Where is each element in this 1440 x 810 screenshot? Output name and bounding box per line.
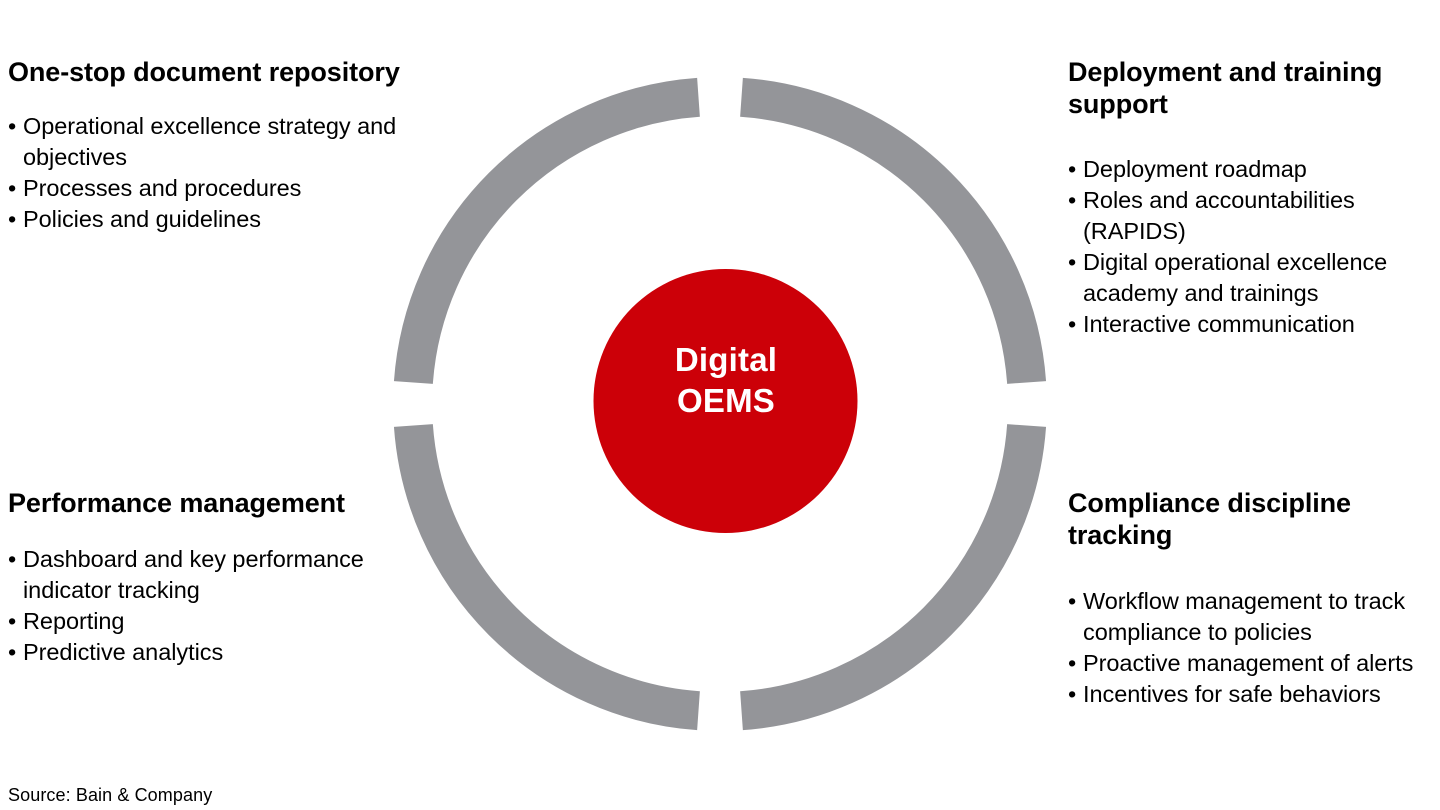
bullet-item: Predictive analytics: [8, 637, 428, 668]
hub-label-line-2: OEMS: [594, 381, 858, 422]
bullet-item: Dashboard and key performance indicator …: [8, 544, 428, 606]
bullet-item: Digital operational excellence academy a…: [1068, 247, 1440, 309]
quadrant-performance-management: Performance management Dashboard and key…: [8, 488, 428, 668]
hub-label: Digital OEMS: [594, 340, 858, 421]
quadrant-heading: One-stop document repository: [8, 57, 448, 89]
bullet-item: Incentives for safe behaviors: [1068, 679, 1440, 710]
bullet-item: Workflow management to track compliance …: [1068, 586, 1440, 648]
quadrant-bullet-list: Operational excellence strategy and obje…: [8, 111, 448, 235]
quadrant-bullet-list: Dashboard and key performance indicator …: [8, 544, 428, 668]
bullet-item: Reporting: [8, 606, 428, 637]
bullet-item: Interactive communication: [1068, 309, 1440, 340]
ring-segment-bottom-left: [413, 426, 698, 711]
quadrant-heading: Performance management: [8, 488, 428, 520]
quadrant-bullet-list: Workflow management to track compliance …: [1068, 586, 1440, 710]
hub-label-line-1: Digital: [594, 340, 858, 381]
bullet-item: Processes and procedures: [8, 173, 448, 204]
quadrant-compliance-discipline-tracking: Compliance discipline tracking Workflow …: [1068, 488, 1440, 710]
diagram-canvas: Digital OEMS One-stop document repositor…: [0, 0, 1440, 810]
bullet-item: Operational excellence strategy and obje…: [8, 111, 448, 173]
ring-segment-bottom-right: [742, 426, 1027, 711]
quadrant-one-stop-document-repository: One-stop document repository Operational…: [8, 57, 448, 235]
quadrant-heading: Deployment and training support: [1068, 57, 1440, 120]
quadrant-heading: Compliance discipline tracking: [1068, 488, 1440, 551]
quadrant-deployment-and-training-support: Deployment and training support Deployme…: [1068, 57, 1440, 340]
bullet-item: Proactive management of alerts: [1068, 648, 1440, 679]
source-note: Source: Bain & Company: [8, 784, 212, 806]
bullet-item: Deployment roadmap: [1068, 154, 1440, 185]
bullet-item: Policies and guidelines: [8, 204, 448, 235]
bullet-item: Roles and accountabilities (RAPIDS): [1068, 185, 1440, 247]
quadrant-bullet-list: Deployment roadmap Roles and accountabil…: [1068, 154, 1440, 340]
